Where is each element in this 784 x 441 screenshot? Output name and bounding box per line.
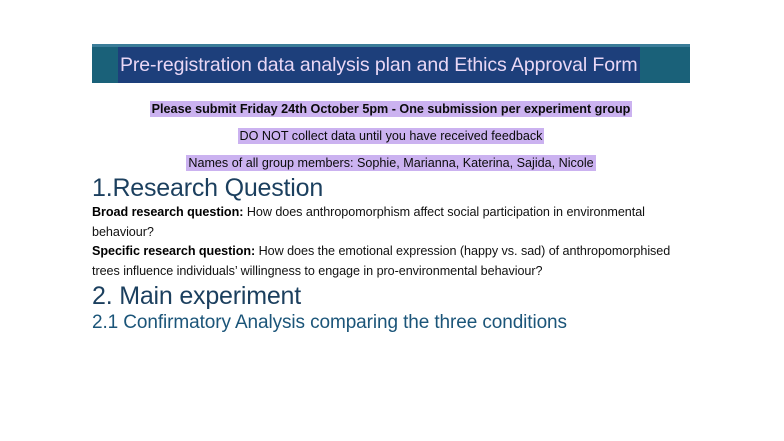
document-page: Pre-registration data analysis plan and …	[0, 0, 784, 441]
paragraph-specific-research-question: Specific research question: How does the…	[92, 242, 690, 281]
notice-line-data-warning: DO NOT collect data until you have recei…	[92, 126, 690, 146]
notice-text-group-members: Names of all group members: Sophie, Mari…	[186, 155, 595, 171]
document-body: Pre-registration data analysis plan and …	[92, 0, 690, 335]
heading-research-question: 1.Research Question	[92, 173, 690, 203]
notice-line-submission: Please submit Friday 24th October 5pm - …	[92, 99, 690, 119]
heading-main-experiment: 2. Main experiment	[92, 281, 690, 311]
paragraph-broad-research-question: Broad research question: How does anthro…	[92, 203, 690, 242]
notice-text-data-warning: DO NOT collect data until you have recei…	[238, 128, 545, 144]
document-title: Pre-registration data analysis plan and …	[118, 47, 640, 83]
label-broad-research-question: Broad research question:	[92, 205, 243, 219]
notice-line-group-members: Names of all group members: Sophie, Mari…	[92, 153, 690, 173]
heading-confirmatory-analysis: 2.1 Confirmatory Analysis comparing the …	[92, 311, 690, 335]
notice-text-submission: Please submit Friday 24th October 5pm - …	[150, 101, 633, 117]
notice-block: Please submit Friday 24th October 5pm - …	[92, 99, 690, 173]
label-specific-research-question: Specific research question:	[92, 244, 255, 258]
document-title-band: Pre-registration data analysis plan and …	[92, 47, 690, 83]
